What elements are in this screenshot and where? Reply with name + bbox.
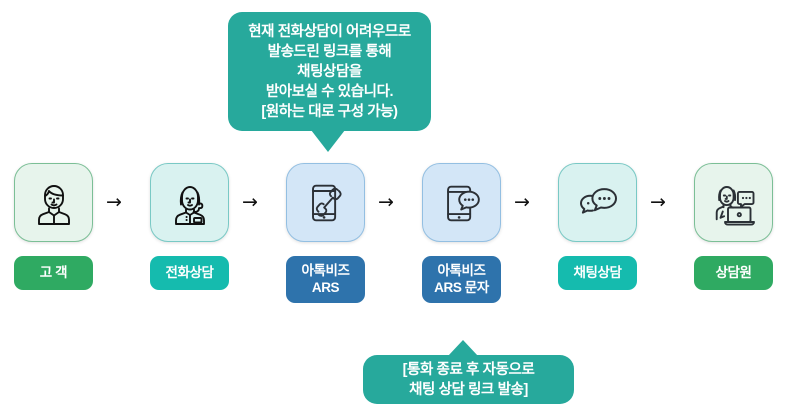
agent-icon-card[interactable] — [694, 163, 773, 242]
flow-arrow-5-icon: → — [645, 193, 671, 212]
headset-agent-icon — [164, 177, 216, 229]
bottom-callout-tail-icon — [448, 340, 478, 356]
flow-step-ars-sms[interactable]: 아톡비즈 ARS 문자 — [422, 163, 501, 303]
phone-consult-icon-card[interactable] — [150, 163, 229, 242]
flow-step-label-ars: 아톡비즈 ARS — [286, 256, 365, 303]
flow-steps-row: 고 객 → — [0, 163, 794, 313]
flow-step-label-ars-sms: 아톡비즈 ARS 문자 — [422, 256, 501, 303]
flow-arrow-2-icon: → — [237, 193, 263, 212]
flow-step-label-agent: 상담원 — [694, 256, 773, 290]
flow-arrow-3-icon: → — [373, 193, 399, 212]
flow-arrow-1-icon: → — [101, 193, 127, 212]
flow-step-chat-consult[interactable]: 채팅상담 — [558, 163, 637, 290]
chat-consult-icon-card[interactable] — [558, 163, 637, 242]
bottom-callout-text: [통화 종료 후 자동으로 채팅 상담 링크 발송] — [403, 360, 535, 400]
top-callout-text: 현재 전화상담이 어려우므로 발송드린 링크를 통해 채팅상담을 받아보실 수 … — [248, 22, 411, 122]
person-customer-icon — [28, 177, 80, 229]
customer-icon-card[interactable] — [14, 163, 93, 242]
flow-arrow-4-icon: → — [509, 193, 535, 212]
top-callout-bubble: 현재 전화상담이 어려우므로 발송드린 링크를 통해 채팅상담을 받아보실 수 … — [228, 12, 431, 131]
flow-step-label-chat-consult: 채팅상담 — [558, 256, 637, 290]
flow-step-ars[interactable]: 아톡비즈 ARS — [286, 163, 365, 303]
phone-handset-icon — [301, 178, 351, 228]
flow-step-customer[interactable]: 고 객 — [14, 163, 93, 290]
agent-laptop-icon — [707, 176, 761, 230]
call-to-chat-flow-diagram: 현재 전화상담이 어려우므로 발송드린 링크를 통해 채팅상담을 받아보실 수 … — [0, 0, 794, 419]
top-callout-tail-icon — [311, 130, 345, 152]
ars-icon-card[interactable] — [286, 163, 365, 242]
chat-bubbles-icon — [572, 177, 624, 229]
flow-step-agent[interactable]: 상담원 — [694, 163, 773, 290]
flow-step-label-phone-consult: 전화상담 — [150, 256, 229, 290]
flow-step-phone-consult[interactable]: 전화상담 — [150, 163, 229, 290]
flow-step-label-customer: 고 객 — [14, 256, 93, 290]
bottom-callout-bubble: [통화 종료 후 자동으로 채팅 상담 링크 발송] — [363, 355, 574, 404]
phone-message-icon — [437, 178, 487, 228]
ars-sms-icon-card[interactable] — [422, 163, 501, 242]
